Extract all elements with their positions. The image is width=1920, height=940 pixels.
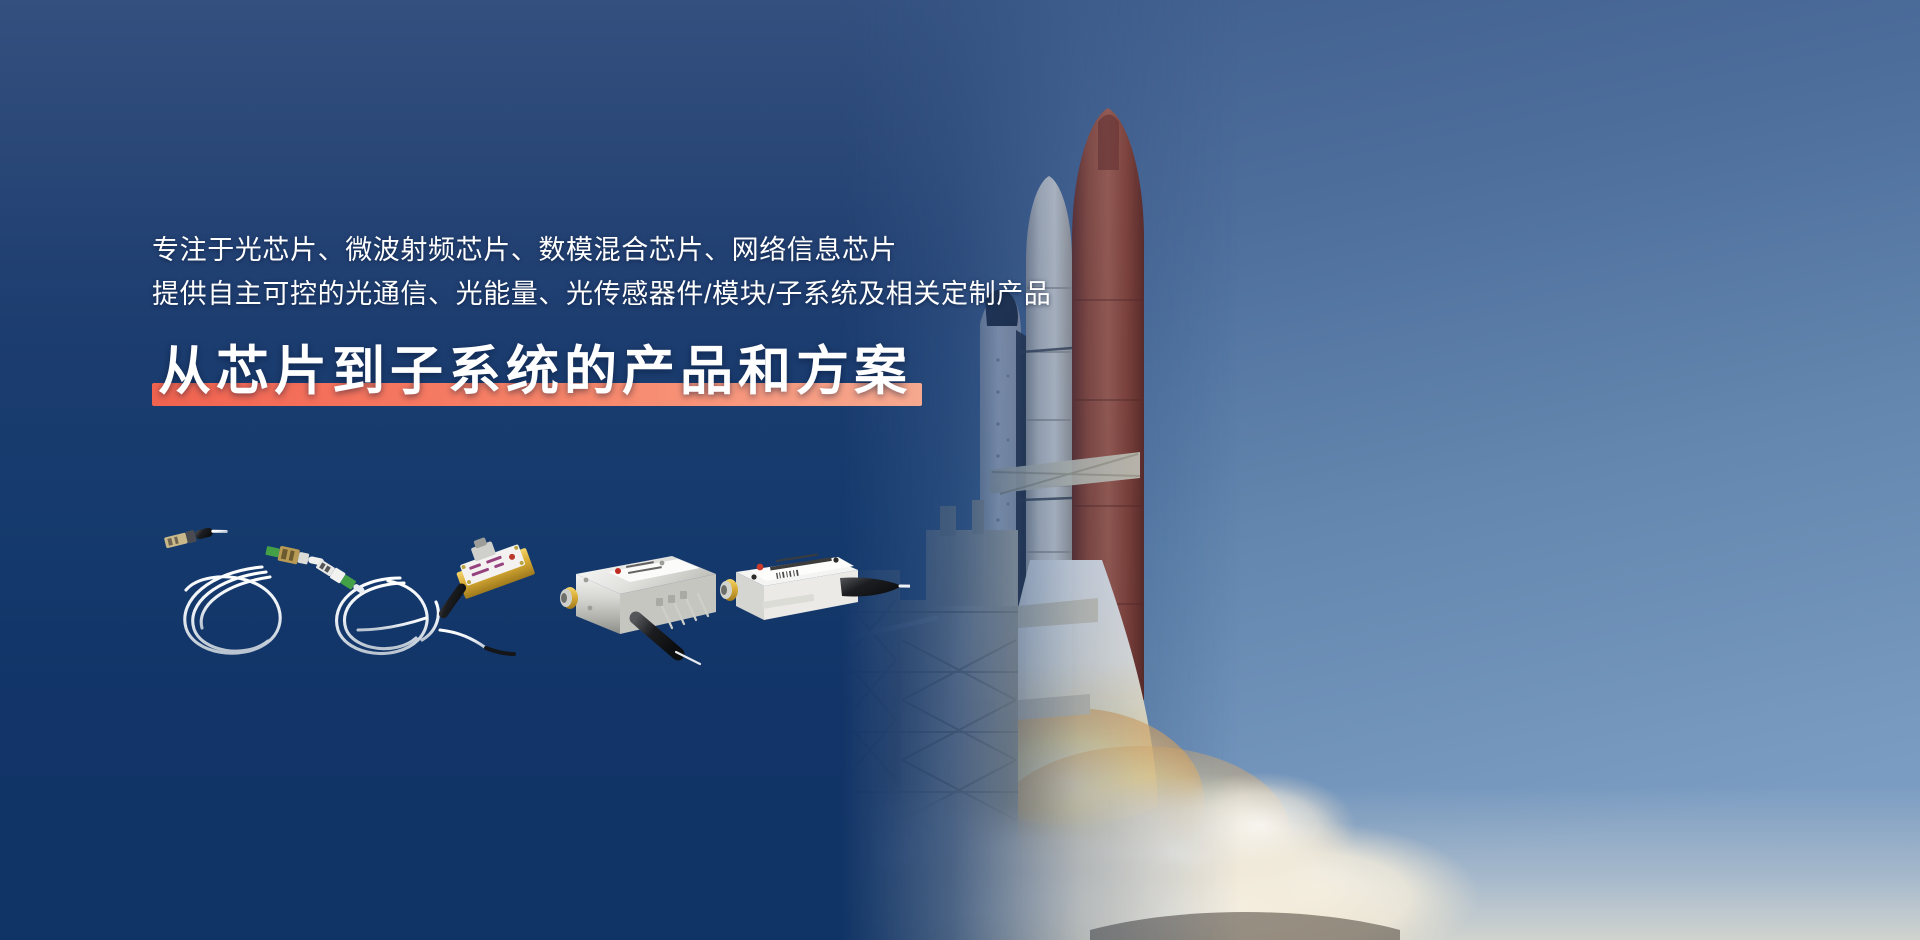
- hero-copy: 专注于光芯片、微波射频芯片、数模混合芯片、网络信息芯片 提供自主可控的光通信、光…: [152, 228, 1152, 412]
- optical-receiver-module: [720, 553, 910, 632]
- headline-block: 从芯片到子系统的产品和方案: [152, 338, 918, 412]
- subline-2: 提供自主可控的光通信、光能量、光传感器件/模块/子系统及相关定制产品: [152, 272, 1152, 316]
- space-shuttle-launch-photo: [840, 0, 1920, 940]
- fiber-connector-left: [164, 528, 227, 549]
- fiber-connector-assembly: [315, 558, 367, 597]
- fiber-boot-cone: [840, 577, 902, 596]
- subline-1: 专注于光芯片、微波射频芯片、数模混合芯片、网络信息芯片: [152, 228, 1152, 272]
- brand-logo-icon: [757, 564, 764, 571]
- receiver-sma-connector: [720, 579, 738, 601]
- sma-connector: [560, 587, 578, 609]
- rf-metal-housing-module: [560, 556, 716, 664]
- smoke-cloud: [840, 772, 1920, 940]
- fiber-pigtail-coil-left: [164, 528, 326, 653]
- fiber-connector-right: [265, 543, 326, 570]
- page-title: 从芯片到子系统的产品和方案: [158, 338, 912, 406]
- hero-banner: 专注于光芯片、微波射频芯片、数模混合芯片、网络信息芯片 提供自主可控的光通信、光…: [0, 0, 1920, 940]
- product-image-strip: [150, 528, 910, 668]
